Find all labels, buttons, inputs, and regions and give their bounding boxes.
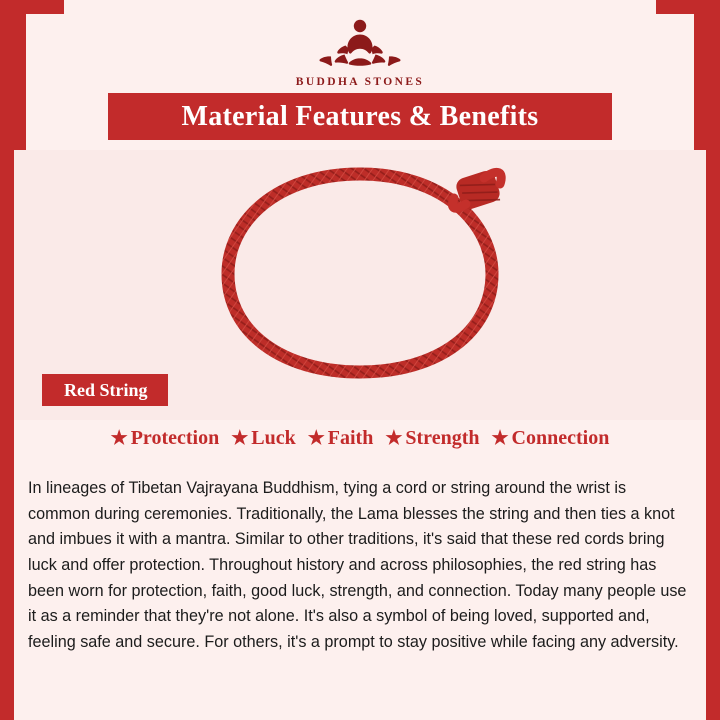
benefit-item-connection: ★ Connection — [485, 427, 615, 450]
benefit-label: Protection — [131, 427, 220, 450]
brand-logo: BUDDHA STONES — [0, 14, 720, 88]
benefit-item-luck: ★ Luck — [225, 427, 302, 450]
title-banner: Material Features & Benefits — [108, 93, 612, 140]
description-paragraph: In lineages of Tibetan Vajrayana Buddhis… — [28, 476, 688, 655]
decorative-band-left-middle — [0, 150, 14, 420]
decorative-band-top-left-inner — [26, 0, 64, 14]
decorative-band-top-right-inner — [656, 0, 694, 14]
decorative-band-bottom-left — [0, 420, 14, 720]
decorative-band-right-middle — [706, 150, 720, 420]
benefit-label: Connection — [512, 427, 610, 450]
infographic-page: BUDDHA STONES Material Features & Benefi… — [0, 0, 720, 720]
lotus-meditation-figure-icon — [304, 14, 416, 74]
benefit-label: Faith — [328, 427, 374, 450]
decorative-band-bottom-right — [706, 420, 720, 720]
benefits-list: ★ Protection ★ Luck ★ Faith ★ Strength ★… — [14, 420, 706, 456]
product-label-ribbon: Red String — [42, 374, 168, 406]
star-icon: ★ — [308, 429, 325, 448]
benefit-item-protection: ★ Protection — [105, 427, 226, 450]
product-image — [14, 150, 706, 392]
product-label-text: Red String — [64, 380, 148, 401]
benefit-label: Strength — [405, 427, 479, 450]
benefit-label: Luck — [251, 427, 295, 450]
page-title: Material Features & Benefits — [182, 101, 539, 133]
benefit-item-strength: ★ Strength — [379, 427, 485, 450]
star-icon: ★ — [111, 429, 128, 448]
star-icon: ★ — [231, 429, 248, 448]
description-block: In lineages of Tibetan Vajrayana Buddhis… — [14, 456, 706, 706]
star-icon: ★ — [385, 429, 402, 448]
brand-name: BUDDHA STONES — [0, 76, 720, 88]
red-braided-string-bracelet-illustration — [14, 150, 706, 392]
star-icon: ★ — [491, 429, 508, 448]
benefit-item-faith: ★ Faith — [302, 427, 380, 450]
